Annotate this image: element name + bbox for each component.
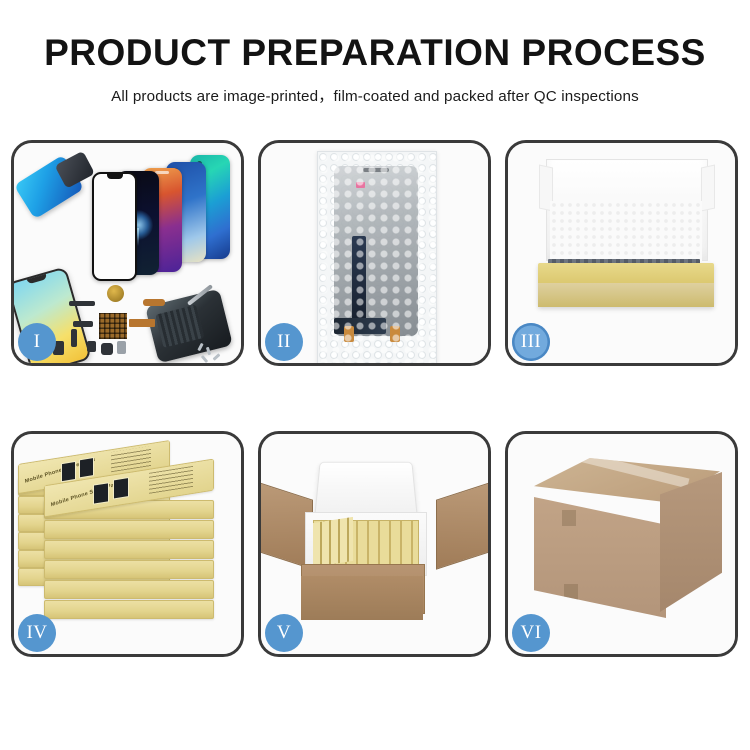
carton-seam bbox=[564, 584, 578, 600]
step-badge-5: V bbox=[265, 614, 303, 652]
step-numeral: I bbox=[34, 331, 41, 353]
phone-screen-1 bbox=[92, 172, 137, 281]
gold-connector-tab bbox=[344, 326, 354, 342]
box-screen-graphic bbox=[79, 457, 94, 478]
packing-tape bbox=[571, 450, 690, 489]
connector-part bbox=[71, 329, 77, 347]
step-numeral: V bbox=[277, 622, 291, 644]
header: PRODUCT PREPARATION PROCESS All products… bbox=[0, 34, 750, 106]
speaker-part-icon bbox=[107, 285, 124, 302]
shipping-carton bbox=[534, 458, 720, 628]
step-numeral: VI bbox=[520, 622, 541, 644]
retail-box bbox=[44, 520, 214, 539]
step-badge-3: III bbox=[512, 323, 550, 361]
connector-part bbox=[73, 321, 93, 327]
screws-group bbox=[197, 343, 223, 365]
antenna-part bbox=[69, 301, 95, 306]
spare-parts-cluster bbox=[69, 285, 219, 366]
box-screen-graphic bbox=[61, 461, 76, 482]
box-screen-graphic bbox=[113, 477, 129, 500]
step-panel-4[interactable]: Mobile Phone Spare Parts bbox=[11, 431, 244, 657]
styrofoam-lid bbox=[314, 462, 418, 520]
gold-connector-tab bbox=[390, 326, 400, 342]
step-badge-6: VI bbox=[512, 614, 550, 652]
lcd-flex-cable bbox=[352, 236, 366, 324]
foam-padding bbox=[550, 201, 702, 267]
retail-box bbox=[44, 580, 214, 599]
button-part bbox=[87, 341, 96, 352]
qc-sticker bbox=[356, 182, 365, 188]
carton-front-face bbox=[301, 576, 423, 620]
step-numeral: II bbox=[277, 331, 291, 353]
infographic-page: PRODUCT PREPARATION PROCESS All products… bbox=[0, 0, 750, 750]
step-panel-1[interactable]: I bbox=[11, 140, 244, 366]
step-badge-1: I bbox=[18, 323, 56, 361]
step-numeral: III bbox=[521, 331, 541, 353]
box-screen-graphic bbox=[93, 482, 109, 505]
step-panel-6[interactable]: VI bbox=[505, 431, 738, 657]
step-numeral: IV bbox=[26, 622, 47, 644]
page-subtitle: All products are image-printed，film-coat… bbox=[0, 84, 750, 106]
step-panel-3[interactable]: III bbox=[505, 140, 738, 366]
retail-box bbox=[44, 560, 214, 579]
flex-cable-part bbox=[143, 299, 165, 306]
retail-box bbox=[44, 540, 214, 559]
flex-cable-part bbox=[129, 319, 155, 327]
step-panel-2[interactable]: II bbox=[258, 140, 491, 366]
lcd-screen-assembly bbox=[334, 166, 418, 336]
step-badge-4: IV bbox=[18, 614, 56, 652]
sim-tray-part bbox=[117, 341, 126, 354]
carton-seam bbox=[562, 510, 576, 526]
page-title: PRODUCT PREPARATION PROCESS bbox=[0, 34, 750, 73]
vibrator-part bbox=[101, 343, 113, 355]
tweezers-icon bbox=[187, 284, 213, 306]
step-badge-2: II bbox=[265, 323, 303, 361]
carton-flap-right bbox=[436, 480, 491, 569]
step-panel-5[interactable]: V bbox=[258, 431, 491, 657]
process-grid: I II bbox=[11, 140, 739, 683]
kraft-box-front bbox=[538, 283, 714, 307]
retail-box bbox=[44, 600, 214, 619]
carton-left-face bbox=[534, 492, 666, 618]
retail-boxes-angled bbox=[313, 517, 353, 567]
bubble-wrap-bag bbox=[317, 151, 437, 365]
chip-grid-part bbox=[99, 313, 127, 339]
carton-right-face bbox=[660, 472, 722, 612]
